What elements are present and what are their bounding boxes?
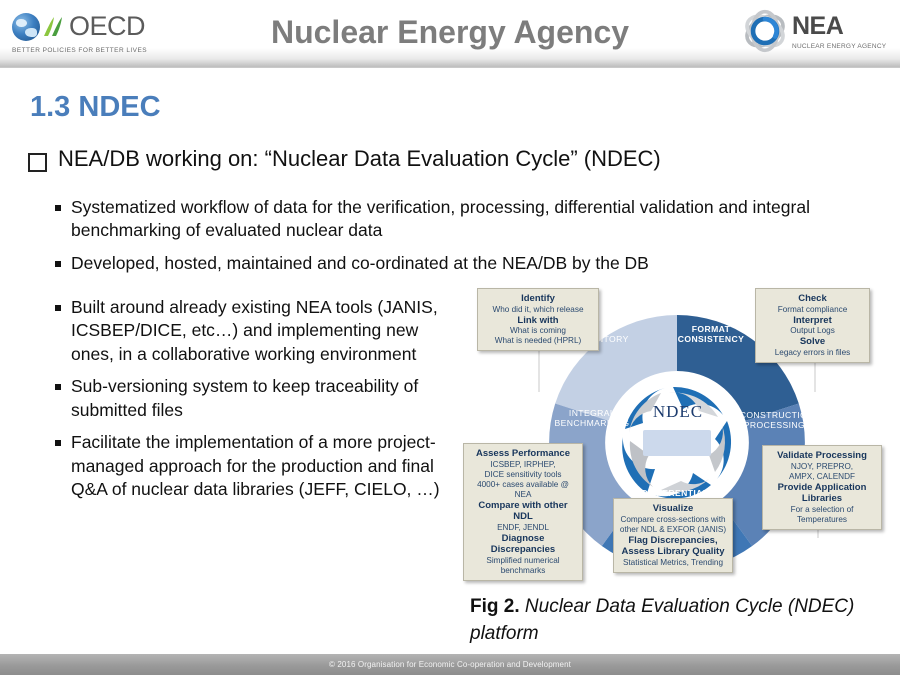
info-box-line: Identify [483, 293, 593, 305]
sub-bullet-text: Sub-versioning system to keep traceabili… [71, 375, 455, 422]
figure-caption: Fig 2. Nuclear Data Evaluation Cycle (ND… [470, 594, 870, 647]
info-box-line: Format compliance [761, 305, 864, 315]
info-box-line: other NDL & EXFOR (JANIS) [619, 525, 727, 535]
nea-wordmark: NEA [792, 14, 886, 39]
square-bullet-icon [55, 384, 61, 390]
slide-title: 1.3 NDEC [30, 91, 161, 124]
list-item: Developed, hosted, maintained and co-ord… [55, 252, 860, 275]
info-box-visualize: VisualizeCompare cross-sections withothe… [613, 498, 733, 573]
info-box-line: Statistical Metrics, Trending [619, 558, 727, 568]
ndec-cycle-diagram: INVENTORY FORMAT CONSISTENCY INTEGRAL BE… [455, 280, 900, 590]
figure-caption-label: Fig 2. [470, 596, 520, 617]
info-box-line: Assess Library Quality [619, 546, 727, 558]
info-box-line: Libraries [768, 493, 876, 505]
info-box-validate-processing: Validate ProcessingNJOY, PREPRO,AMPX, CA… [762, 445, 882, 530]
info-box-line: Solve [761, 336, 864, 348]
list-item: Sub-versioning system to keep traceabili… [55, 375, 455, 422]
wheel-label-format-consistency: FORMAT CONSISTENCY [674, 324, 748, 345]
list-item: Built around already existing NEA tools … [55, 296, 455, 366]
info-box-line: Flag Discrepancies, [619, 535, 727, 547]
square-bullet-icon [55, 440, 61, 446]
list-item: Systematized workflow of data for the ve… [55, 196, 860, 243]
info-box-line: ICSBEP, IRPHEP, [469, 460, 577, 470]
info-box-line: ENDF, JENDL [469, 523, 577, 533]
list-item: Facilitate the implementation of a more … [55, 431, 455, 501]
sub-bullet-list-left: Built around already existing NEA tools … [55, 296, 455, 511]
info-box-line: 4000+ cases available @ NEA [469, 480, 577, 500]
info-box-line: DICE sensitivity tools [469, 470, 577, 480]
info-box-line: Compare with other NDL [469, 500, 577, 523]
info-box-line: What is coming [483, 326, 593, 336]
info-box-identify: IdentifyWho did it, which releaseLink wi… [477, 288, 599, 351]
page-header: OECD BETTER POLICIES FOR BETTER LIVES Nu… [0, 0, 900, 68]
info-box-line: Who did it, which release [483, 305, 593, 315]
wheel-label-reconstruction-processing: RECONSTRUCTION & PROCESSING [727, 410, 813, 431]
main-bullet-text: NEA/DB working on: “Nuclear Data Evaluat… [58, 146, 661, 172]
square-bullet-icon [55, 205, 61, 211]
info-box-line: Link with [483, 315, 593, 327]
square-bullet-icon [55, 305, 61, 311]
main-bullet: NEA/DB working on: “Nuclear Data Evaluat… [28, 146, 868, 172]
square-bullet-icon [55, 261, 61, 267]
square-outline-bullet-icon [28, 153, 47, 172]
info-box-line: Legacy errors in files [761, 348, 864, 358]
info-box-line: Diagnose Discrepancies [469, 533, 577, 556]
wheel-label-integral-benchmarking: INTEGRAL BENCHMARKING [553, 408, 631, 429]
info-box-line: Provide Application [768, 482, 876, 494]
nea-logo: NEA NUCLEAR ENERGY AGENCY [742, 8, 890, 60]
info-box-line: Simplified numerical [469, 556, 577, 566]
page-footer: © 2016 Organisation for Economic Co-oper… [0, 654, 900, 675]
info-box-line: Output Logs [761, 326, 864, 336]
sub-bullet-text: Systematized workflow of data for the ve… [71, 196, 860, 243]
info-box-line: Validate Processing [768, 450, 876, 462]
copyright-text: © 2016 Organisation for Economic Co-oper… [329, 660, 571, 669]
info-box-line: For a selection of Temperatures [768, 505, 876, 525]
sub-bullet-text: Built around already existing NEA tools … [71, 296, 455, 366]
wheel-label-differential: DIFFERENTIAL [635, 488, 715, 498]
nea-swirl-icon [742, 8, 788, 54]
info-box-line: Check [761, 293, 864, 305]
info-box-check: CheckFormat complianceInterpretOutput Lo… [755, 288, 870, 363]
nea-tagline: NUCLEAR ENERGY AGENCY [792, 43, 886, 50]
info-box-line: Visualize [619, 503, 727, 515]
info-box-line: What is needed (HPRL) [483, 336, 593, 346]
info-box-line: benchmarks [469, 566, 577, 576]
info-box-line: Assess Performance [469, 448, 577, 460]
info-box-line: AMPX, CALENDF [768, 472, 876, 482]
sub-bullet-list-top: Systematized workflow of data for the ve… [55, 196, 860, 284]
sub-bullet-text: Facilitate the implementation of a more … [71, 431, 455, 501]
sub-bullet-text: Developed, hosted, maintained and co-ord… [71, 252, 649, 275]
info-box-assess-performance: Assess PerformanceICSBEP, IRPHEP,DICE se… [463, 443, 583, 581]
info-box-line: Interpret [761, 315, 864, 327]
info-box-line: Compare cross-sections with [619, 515, 727, 525]
ndec-center-label: NDEC [638, 402, 718, 422]
info-box-line: NJOY, PREPRO, [768, 462, 876, 472]
figure-caption-text: Nuclear Data Evaluation Cycle (NDEC) pla… [470, 596, 854, 644]
